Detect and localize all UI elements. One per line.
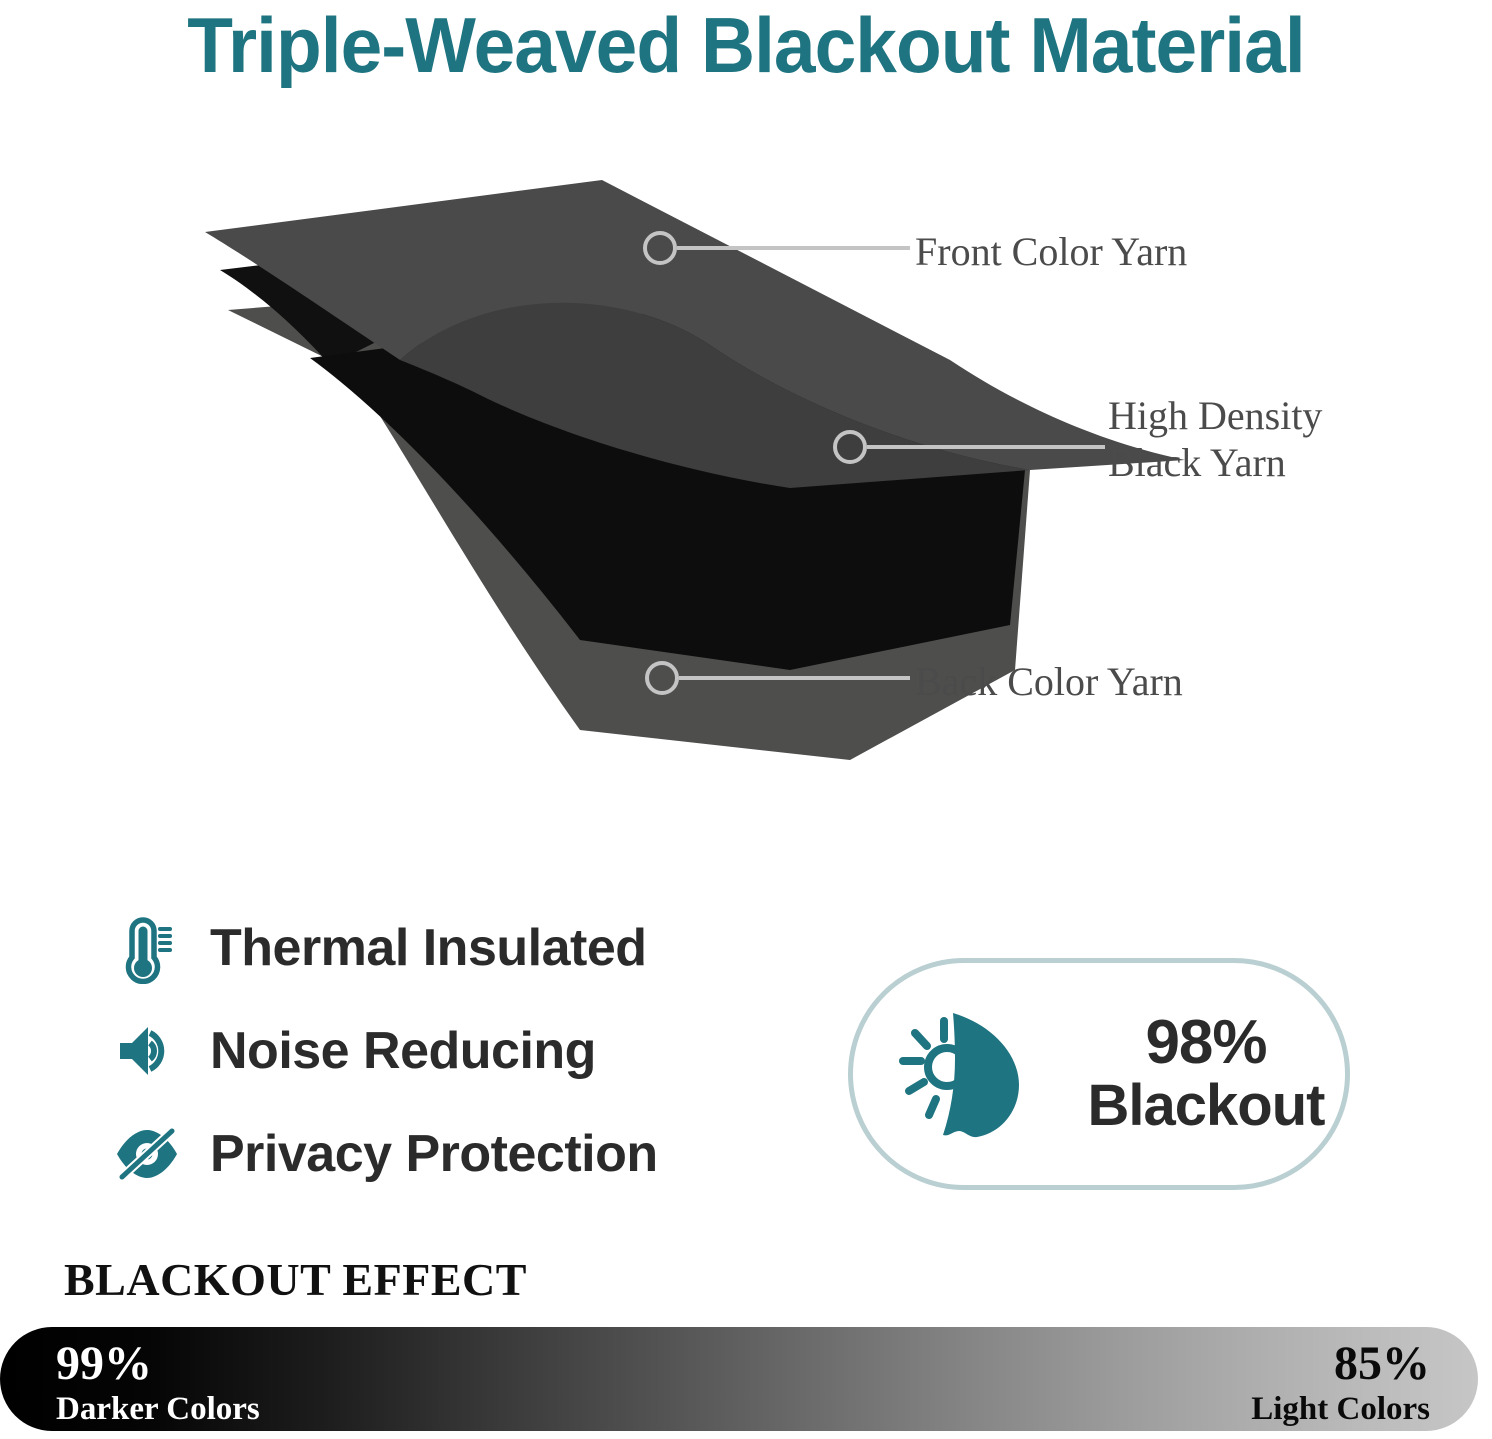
blackout-effect-title: BLACKOUT EFFECT <box>64 1254 527 1306</box>
badge-word: Blackout <box>1088 1075 1325 1137</box>
diagram-label-front-color-yarn: Front Color Yarn <box>915 228 1187 275</box>
diagram-label-high-density-line1: High Density <box>1108 392 1438 439</box>
page-title: Triple-Weaved Blackout Material <box>30 2 1462 88</box>
feature-item-thermal-insulated: Thermal Insulated <box>108 898 788 998</box>
sun-blocked-icon <box>853 999 1085 1149</box>
gradient-bar-left-stat: 99% Darker Colors <box>56 1338 260 1428</box>
gradient-bar-right-stat: 85% Light Colors <box>1251 1338 1430 1428</box>
badge-text-block: 98% Blackout <box>1085 1011 1345 1137</box>
gradient-bar-right-caption: Light Colors <box>1251 1390 1430 1428</box>
blackout-percentage-badge: 98% Blackout <box>848 958 1350 1190</box>
gradient-bar-left-percent: 99% <box>56 1338 260 1390</box>
feature-label-thermal-insulated: Thermal Insulated <box>186 918 647 978</box>
diagram-label-back-color-yarn: Back Color Yarn <box>915 658 1183 705</box>
diagram-label-high-density-line2: Black Yarn <box>1108 439 1438 486</box>
diagram-label-high-density-black-yarn: High Density Black Yarn <box>1108 392 1438 486</box>
feature-item-privacy-protection: Privacy Protection <box>108 1104 788 1204</box>
thermometer-icon <box>108 912 186 984</box>
feature-label-privacy-protection: Privacy Protection <box>186 1124 658 1184</box>
feature-item-noise-reducing: Noise Reducing <box>108 1001 788 1101</box>
feature-label-noise-reducing: Noise Reducing <box>186 1021 596 1081</box>
gradient-bar-left-caption: Darker Colors <box>56 1390 260 1428</box>
feature-list: Thermal Insulated Noise Reducing Privacy… <box>108 898 788 1207</box>
gradient-bar-right-percent: 85% <box>1251 1338 1430 1390</box>
badge-percent: 98% <box>1145 1011 1266 1075</box>
eye-slash-icon <box>108 1126 186 1182</box>
speaker-icon <box>108 1021 186 1081</box>
